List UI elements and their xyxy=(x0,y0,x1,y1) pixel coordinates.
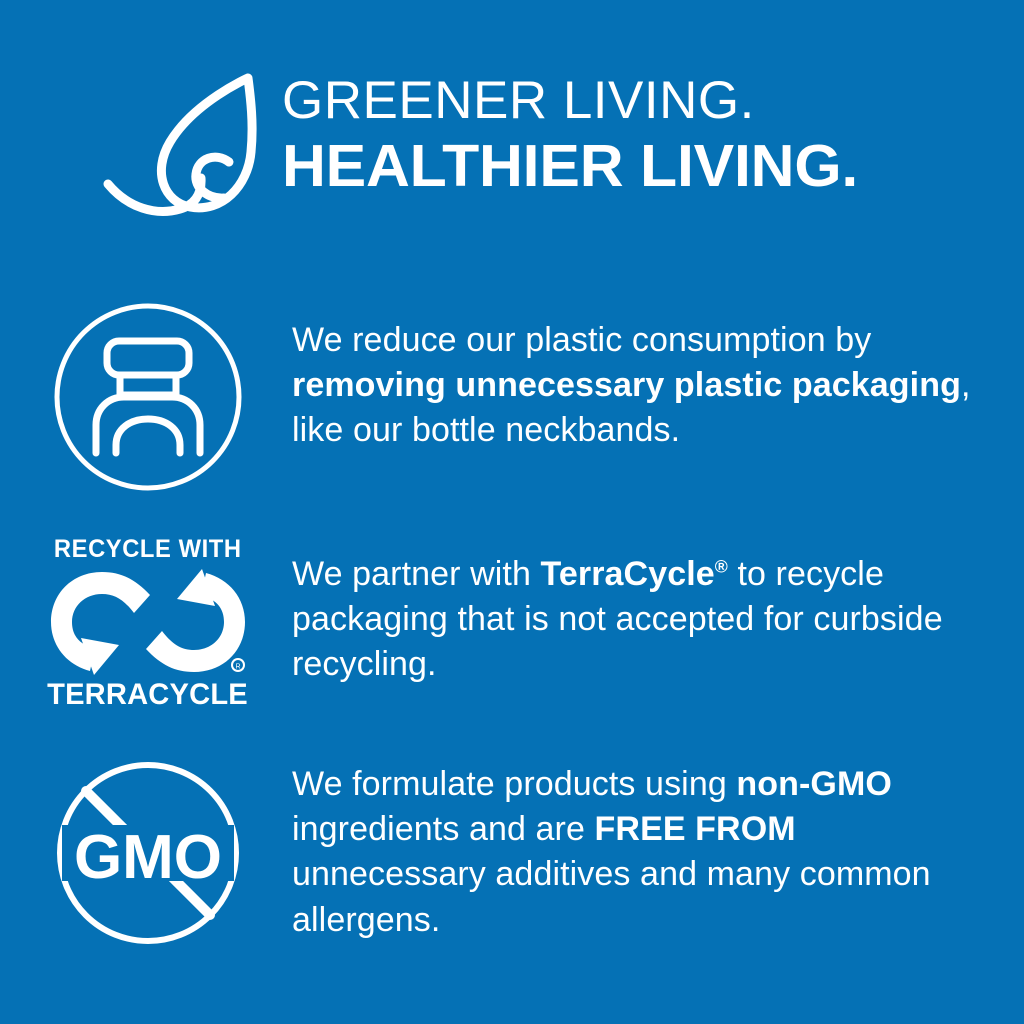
terracycle-top-label: RECYCLE WITH xyxy=(54,537,242,562)
infinity-recycle-loop-icon: R xyxy=(45,566,251,678)
feature-text-plastic-reduction: We reduce our plastic consumption by rem… xyxy=(292,318,988,454)
bottle-packaging-icon xyxy=(50,299,246,495)
headline-line-2: HEALTHIER LIVING. xyxy=(282,136,858,198)
feature-row-terracycle: RECYCLE WITH R xyxy=(0,528,1024,718)
text-cell: We reduce our plastic consumption by rem… xyxy=(290,292,1024,454)
infographic-page: GREENER LIVING. HEALTHIER LIVING. xyxy=(0,0,1024,1024)
icon-cell: GMO xyxy=(0,748,290,958)
svg-text:R: R xyxy=(235,663,240,670)
terracycle-bottom-label: TERRACYCLE xyxy=(48,680,249,710)
terracycle-recycle-icon: RECYCLE WITH R xyxy=(41,530,255,716)
icon-cell xyxy=(0,292,290,502)
feature-text-terracycle: We partner with TerraCycle® to recycle p… xyxy=(292,552,988,688)
text-cell: We formulate products using non-GMO ingr… xyxy=(290,748,1024,943)
header-text-group: GREENER LIVING. HEALTHIER LIVING. xyxy=(282,74,841,198)
leaf-icon xyxy=(98,66,274,226)
gmo-label: GMO xyxy=(74,823,222,892)
header: GREENER LIVING. HEALTHIER LIVING. xyxy=(0,62,1024,232)
text-cell: We partner with TerraCycle® to recycle p… xyxy=(290,528,1024,688)
icon-cell: RECYCLE WITH R xyxy=(0,528,290,718)
feature-row-non-gmo: GMO We formulate products using non-GMO … xyxy=(0,748,1024,958)
no-gmo-icon: GMO xyxy=(52,757,244,949)
feature-row-plastic-reduction: We reduce our plastic consumption by rem… xyxy=(0,292,1024,502)
headline-line-1: GREENER LIVING. xyxy=(282,74,841,128)
feature-text-non-gmo: We formulate products using non-GMO ingr… xyxy=(292,762,988,943)
